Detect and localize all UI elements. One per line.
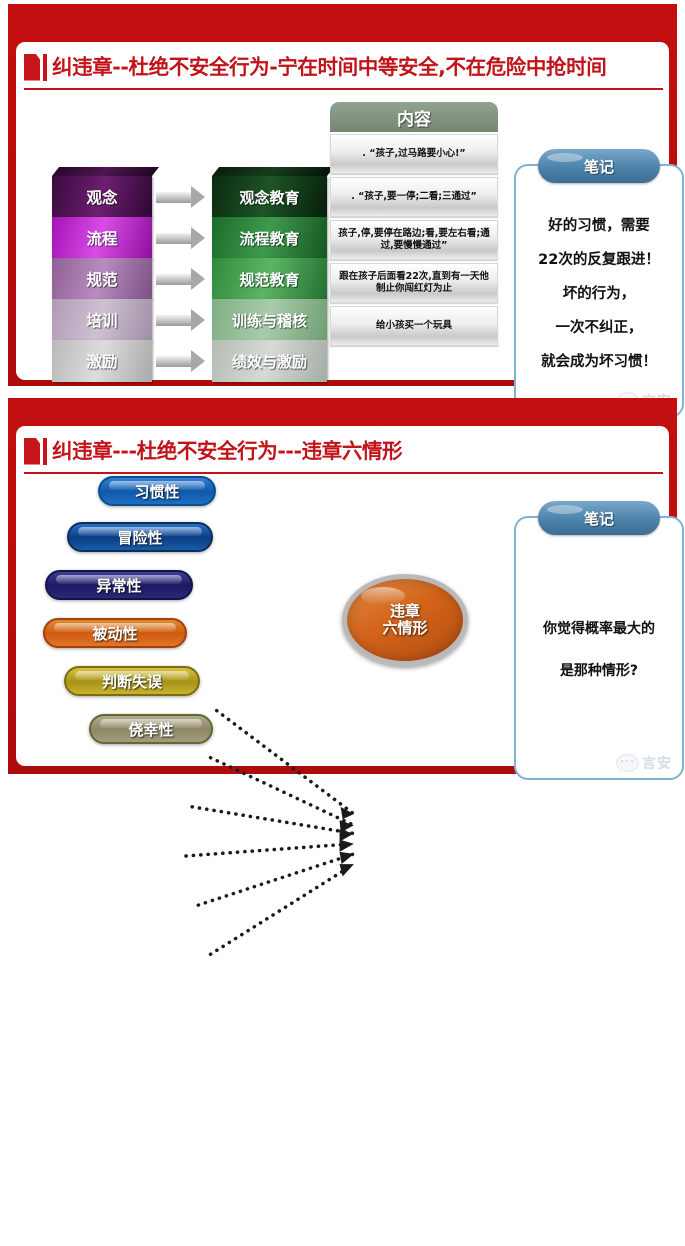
right-arrow-icon [156,356,192,367]
violation-pill-luck[interactable]: 侥幸性 [89,714,213,744]
violation-pill-luck-label: 侥幸性 [128,719,173,740]
chat-bubble-icon [616,754,639,772]
stage-block-1[interactable]: 观念 [52,176,152,218]
right-arrow-icon [156,192,192,203]
notes-body: 好的习惯，需要 22次的反复跟进！ 坏的行为， 一次不纠正， 就会成为坏习惯！ [516,192,682,392]
arrow-row-5 [156,340,210,382]
right-arrow-icon [156,274,192,285]
arrow-row-1 [156,176,210,218]
education-block-2-label: 流程教育 [239,228,299,249]
stage-block-5-label: 激励 [86,350,117,372]
stage-block-3-label: 规范 [86,268,117,290]
panel-2-body: 习惯性 冒险性 异常性 被动性 判断失误 侥幸性 违章 六情形 笔记 你觉得概率… [16,468,669,766]
arrow-row-4 [156,299,210,341]
stage-block-2-label: 流程 [86,227,117,249]
right-arrow-icon [156,315,192,326]
notes-body: 你觉得概率最大的 是那种情形? [516,544,682,754]
notes-line: 你觉得概率最大的 [543,618,655,638]
education-block-3[interactable]: 规范教育 [212,258,327,300]
panel-2-headline: 纠违章---杜绝不安全行为---违章六情形 [16,430,669,472]
education-block-5[interactable]: 绩效与激励 [212,340,327,382]
content-column-header: 内容 [330,102,498,132]
education-block-1-label: 观念教育 [239,187,299,208]
education-column-mid: 观念教育 流程教育 规范教育 训练与稽核 绩效与激励 [212,176,327,381]
panel-2-content-area: 纠违章---杜绝不安全行为---违章六情形 [16,426,669,766]
violation-hub[interactable]: 违章 六情形 [342,574,468,666]
bubble-dots-icon [621,760,633,762]
violation-pill-misjudgment-label: 判断失误 [102,671,162,692]
panel-1-headline-rule [24,88,663,90]
education-block-3-label: 规范教育 [239,269,299,290]
content-row-list: . “孩子,过马路要小心!” . “孩子,要一停;二看;三通过” 孩子,停,要停… [330,134,498,346]
panel-1-content-area: 纠违章--杜绝不安全行为-宁在时间中等安全,不在危险中抢时间 观念 流程 规范 … [16,42,669,380]
violation-pill-abnormal-label: 异常性 [96,575,141,596]
violation-pill-passive[interactable]: 被动性 [43,618,187,648]
panel-six-violation-types: 纠违章---杜绝不安全行为---违章六情形 [8,398,677,774]
violation-hub-line-2: 六情形 [382,620,427,637]
notes-line: 22次的反复跟进！ [538,248,660,269]
stage-block-3[interactable]: 规范 [52,258,152,300]
notes-card-panel-2: 笔记 你觉得概率最大的 是那种情形? 言安 [514,516,684,780]
notes-line: 好的习惯，需要 [548,214,650,235]
notes-tab-label: 笔记 [538,501,660,535]
violation-pill-misjudgment[interactable]: 判断失误 [64,666,200,696]
page-flag-icon [24,54,40,81]
watermark-text: 言安 [642,753,672,773]
headline-accent-bar [43,54,47,81]
content-row[interactable]: 孩子,停,要停在路边;看,要左右看;通过,要慢慢通过” [330,220,498,260]
page-flag-icon [24,438,40,465]
education-block-4[interactable]: 训练与稽核 [212,299,327,341]
education-block-4-label: 训练与稽核 [232,310,307,331]
notes-line: 一次不纠正， [556,316,643,337]
education-block-5-label: 绩效与激励 [232,351,307,372]
notes-line: 就会成为坏习惯！ [541,350,657,371]
content-row[interactable]: . “孩子,要一停;二看;三通过” [330,177,498,217]
watermark: 言安 [616,753,672,773]
panel-2-headline-text: 纠违章---杜绝不安全行为---违章六情形 [52,441,402,462]
arrow-row-2 [156,217,210,259]
violation-pill-abnormal[interactable]: 异常性 [45,570,193,600]
right-arrow-icon [156,233,192,244]
violation-pill-habitual[interactable]: 习惯性 [98,476,216,506]
stage-block-5[interactable]: 激励 [52,340,152,382]
headline-accent-bar [43,438,47,465]
violation-pill-habitual-label: 习惯性 [134,481,179,502]
stage-block-1-label: 观念 [86,186,117,208]
stage-block-4-label: 培训 [86,309,117,331]
arrow-column [156,176,210,381]
panel-1-headline: 纠违章--杜绝不安全行为-宁在时间中等安全,不在危险中抢时间 [16,46,669,88]
poster-page: 纠违章--杜绝不安全行为-宁在时间中等安全,不在危险中抢时间 观念 流程 规范 … [0,0,685,778]
content-column: 内容 . “孩子,过马路要小心!” . “孩子,要一停;二看;三通过” 孩子,停… [330,102,498,349]
content-row[interactable]: . “孩子,过马路要小心!” [330,134,498,174]
stage-block-4[interactable]: 培训 [52,299,152,341]
education-block-1[interactable]: 观念教育 [212,176,327,218]
notes-card-panel-1: 笔记 好的习惯，需要 22次的反复跟进！ 坏的行为， 一次不纠正， 就会成为坏习… [514,164,684,418]
violation-pill-passive-label: 被动性 [92,623,137,644]
stage-block-2[interactable]: 流程 [52,217,152,259]
notes-line: 是那种情形? [560,660,638,680]
panel-1-headline-text: 纠违章--杜绝不安全行为-宁在时间中等安全,不在危险中抢时间 [52,57,606,78]
violation-pill-risky[interactable]: 冒险性 [67,522,213,552]
violation-pill-risky-label: 冒险性 [117,527,162,548]
notes-tab-label: 笔记 [538,149,660,183]
notes-line: 坏的行为， [563,282,636,303]
content-row[interactable]: 跟在孩子后面看22次,直到有一天他制止你闯红灯为止 [330,263,498,303]
stage-column-left: 观念 流程 规范 培训 激励 [52,176,152,381]
panel-safety-behavior: 纠违章--杜绝不安全行为-宁在时间中等安全,不在危险中抢时间 观念 流程 规范 … [8,4,677,386]
violation-hub-line-1: 违章 [390,603,420,620]
education-block-2[interactable]: 流程教育 [212,217,327,259]
panel-1-body: 观念 流程 规范 培训 激励 观念教育 流程教育 [16,92,669,380]
content-row[interactable]: 给小孩买一个玩具 [330,306,498,346]
arrow-row-3 [156,258,210,300]
